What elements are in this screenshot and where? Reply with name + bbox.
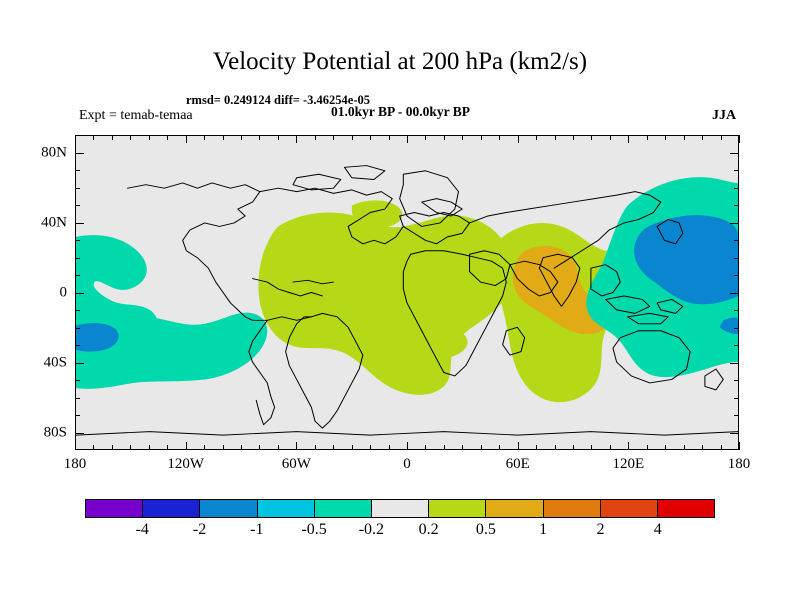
x-axis-tick (536, 445, 537, 450)
y-axis-label: 40S (19, 354, 67, 371)
y-axis-tick (734, 275, 739, 276)
x-axis-tick (333, 135, 334, 140)
contour-fills (76, 177, 738, 402)
x-axis-tick (315, 135, 316, 140)
x-axis-tick (518, 135, 519, 143)
y-axis-tick (734, 170, 739, 171)
x-axis-label: 0 (403, 456, 411, 473)
colorbar-segment (372, 500, 429, 517)
x-axis-tick (536, 135, 537, 140)
y-axis-label: 80S (19, 424, 67, 441)
x-axis-tick (462, 135, 463, 140)
map-canvas (76, 136, 738, 449)
x-axis-tick (93, 445, 94, 450)
x-axis-tick (223, 445, 224, 450)
colorbar-tick-label: 4 (654, 521, 662, 539)
x-axis-tick (370, 135, 371, 140)
contour-west-africa-green (398, 326, 468, 360)
x-axis-tick (425, 445, 426, 450)
x-axis-tick (444, 445, 445, 450)
colorbar-tick-label: 1 (539, 521, 547, 539)
colorbar-segment (315, 500, 372, 517)
x-axis-tick (333, 445, 334, 450)
colorbar-segment (86, 500, 143, 517)
y-axis-tick (75, 153, 84, 154)
x-axis-tick (186, 442, 187, 450)
x-axis-tick (573, 135, 574, 140)
x-axis-tick (702, 135, 703, 140)
y-axis-tick (75, 293, 84, 294)
x-axis-tick (112, 135, 113, 140)
x-axis-tick (241, 135, 242, 140)
x-axis-label: 180 (64, 456, 87, 473)
x-axis-tick (591, 445, 592, 450)
contour-americas-atlantic-green (258, 213, 512, 395)
y-axis-tick (75, 170, 80, 171)
x-axis-tick (647, 445, 648, 450)
y-axis-tick (734, 380, 739, 381)
x-axis-tick (555, 135, 556, 140)
velocity-potential-figure: Velocity Potential at 200 hPa (km2/s) rm… (0, 0, 800, 600)
x-axis-tick (721, 445, 722, 450)
x-axis-tick (573, 445, 574, 450)
y-axis-tick (75, 363, 84, 364)
y-axis-tick (734, 345, 739, 346)
y-axis-tick (734, 205, 739, 206)
x-axis-tick (628, 135, 629, 143)
x-axis-tick (167, 135, 168, 140)
x-axis-tick (370, 445, 371, 450)
y-axis-tick (734, 188, 739, 189)
x-axis-tick (647, 135, 648, 140)
x-axis-tick (352, 445, 353, 450)
x-axis-tick (149, 135, 150, 140)
y-axis-tick (75, 380, 80, 381)
x-axis-tick (665, 135, 666, 140)
x-axis-tick (499, 135, 500, 140)
x-axis-tick (186, 135, 187, 143)
x-axis-tick (130, 135, 131, 140)
x-axis-tick (352, 135, 353, 140)
season-label: JJA (712, 108, 736, 124)
y-axis-tick (734, 240, 739, 241)
y-axis-tick (730, 363, 739, 364)
colorbar-tick-label: 0.5 (476, 521, 496, 539)
x-axis-tick (425, 135, 426, 140)
y-axis-tick (75, 345, 80, 346)
x-axis-label: 120W (167, 456, 204, 473)
colorbar (85, 499, 715, 518)
x-axis-label: 60W (282, 456, 311, 473)
x-axis-tick (204, 445, 205, 450)
y-axis-tick (75, 205, 80, 206)
x-axis-tick (665, 445, 666, 450)
x-axis-tick (167, 445, 168, 450)
y-axis-tick (75, 188, 80, 189)
x-axis-tick (407, 135, 408, 143)
colorbar-tick-label: -0.2 (359, 521, 384, 539)
x-axis-tick (481, 445, 482, 450)
x-axis-tick (204, 135, 205, 140)
y-axis-tick (75, 240, 80, 241)
y-axis-tick (730, 153, 739, 154)
x-axis-tick (278, 445, 279, 450)
x-axis-tick (241, 445, 242, 450)
y-axis-tick (75, 223, 84, 224)
colorbar-tick-label: -0.5 (301, 521, 326, 539)
x-axis-tick (610, 445, 611, 450)
y-axis-tick (734, 310, 739, 311)
x-axis-tick (223, 135, 224, 140)
y-axis-tick (75, 415, 80, 416)
colorbar-tick-label: 2 (596, 521, 604, 539)
x-axis-tick (499, 445, 500, 450)
colorbar-tick-label: 0.2 (419, 521, 439, 539)
x-axis-tick (389, 445, 390, 450)
colorbar-segment (429, 500, 486, 517)
colorbar-segment (544, 500, 601, 517)
x-axis-tick (444, 135, 445, 140)
period-annotation: 01.0kyr BP - 00.0kyr BP (331, 104, 470, 120)
y-axis-tick (734, 415, 739, 416)
x-axis-tick (628, 442, 629, 450)
y-axis-tick (730, 293, 739, 294)
colorbar-segment (200, 500, 257, 517)
x-axis-tick (130, 445, 131, 450)
x-axis-tick (555, 445, 556, 450)
x-axis-label: 60E (506, 456, 530, 473)
colorbar-segment (258, 500, 315, 517)
colorbar-segment (601, 500, 658, 517)
x-axis-tick (684, 135, 685, 140)
x-axis-tick (259, 445, 260, 450)
x-axis-tick (684, 445, 685, 450)
map-plot-area (75, 135, 739, 450)
x-axis-tick (75, 135, 76, 143)
y-axis-tick (75, 258, 80, 259)
colorbar-segment (658, 500, 714, 517)
x-axis-tick (315, 445, 316, 450)
y-axis-label: 80N (19, 144, 67, 161)
x-axis-tick (518, 442, 519, 450)
y-axis-tick (75, 433, 84, 434)
x-axis-tick (407, 442, 408, 450)
contour-south-pacific-teal (76, 313, 267, 389)
x-axis-tick (278, 135, 279, 140)
experiment-label: Expt = temab-temaa (79, 108, 193, 124)
x-axis-tick (389, 135, 390, 140)
y-axis-tick (730, 223, 739, 224)
colorbar-segment (486, 500, 543, 517)
y-axis-tick (75, 328, 80, 329)
y-axis-tick (734, 328, 739, 329)
colorbar-tick-label: -4 (136, 521, 149, 539)
x-axis-tick (591, 135, 592, 140)
x-axis-label: 120E (612, 456, 644, 473)
x-axis-tick (93, 135, 94, 140)
colorbar-tick-label: -1 (250, 521, 263, 539)
x-axis-tick (296, 442, 297, 450)
y-axis-tick (75, 398, 80, 399)
x-axis-tick (739, 442, 740, 450)
figure-title: Velocity Potential at 200 hPa (km2/s) (0, 48, 800, 76)
x-axis-tick (112, 445, 113, 450)
x-axis-tick (721, 135, 722, 140)
x-axis-tick (259, 135, 260, 140)
x-axis-tick (462, 445, 463, 450)
x-axis-tick (481, 135, 482, 140)
x-axis-tick (739, 135, 740, 143)
y-axis-tick (75, 310, 80, 311)
y-axis-tick (734, 398, 739, 399)
x-axis-tick (149, 445, 150, 450)
colorbar-tick-label: -2 (193, 521, 206, 539)
y-axis-tick (734, 258, 739, 259)
y-axis-tick (75, 275, 80, 276)
x-axis-tick (610, 135, 611, 140)
colorbar-segment (143, 500, 200, 517)
y-axis-label: 40N (19, 214, 67, 231)
x-axis-tick (702, 445, 703, 450)
x-axis-tick (75, 442, 76, 450)
x-axis-tick (296, 135, 297, 143)
y-axis-tick (730, 433, 739, 434)
x-axis-label: 180 (728, 456, 751, 473)
y-axis-label: 0 (19, 284, 67, 301)
